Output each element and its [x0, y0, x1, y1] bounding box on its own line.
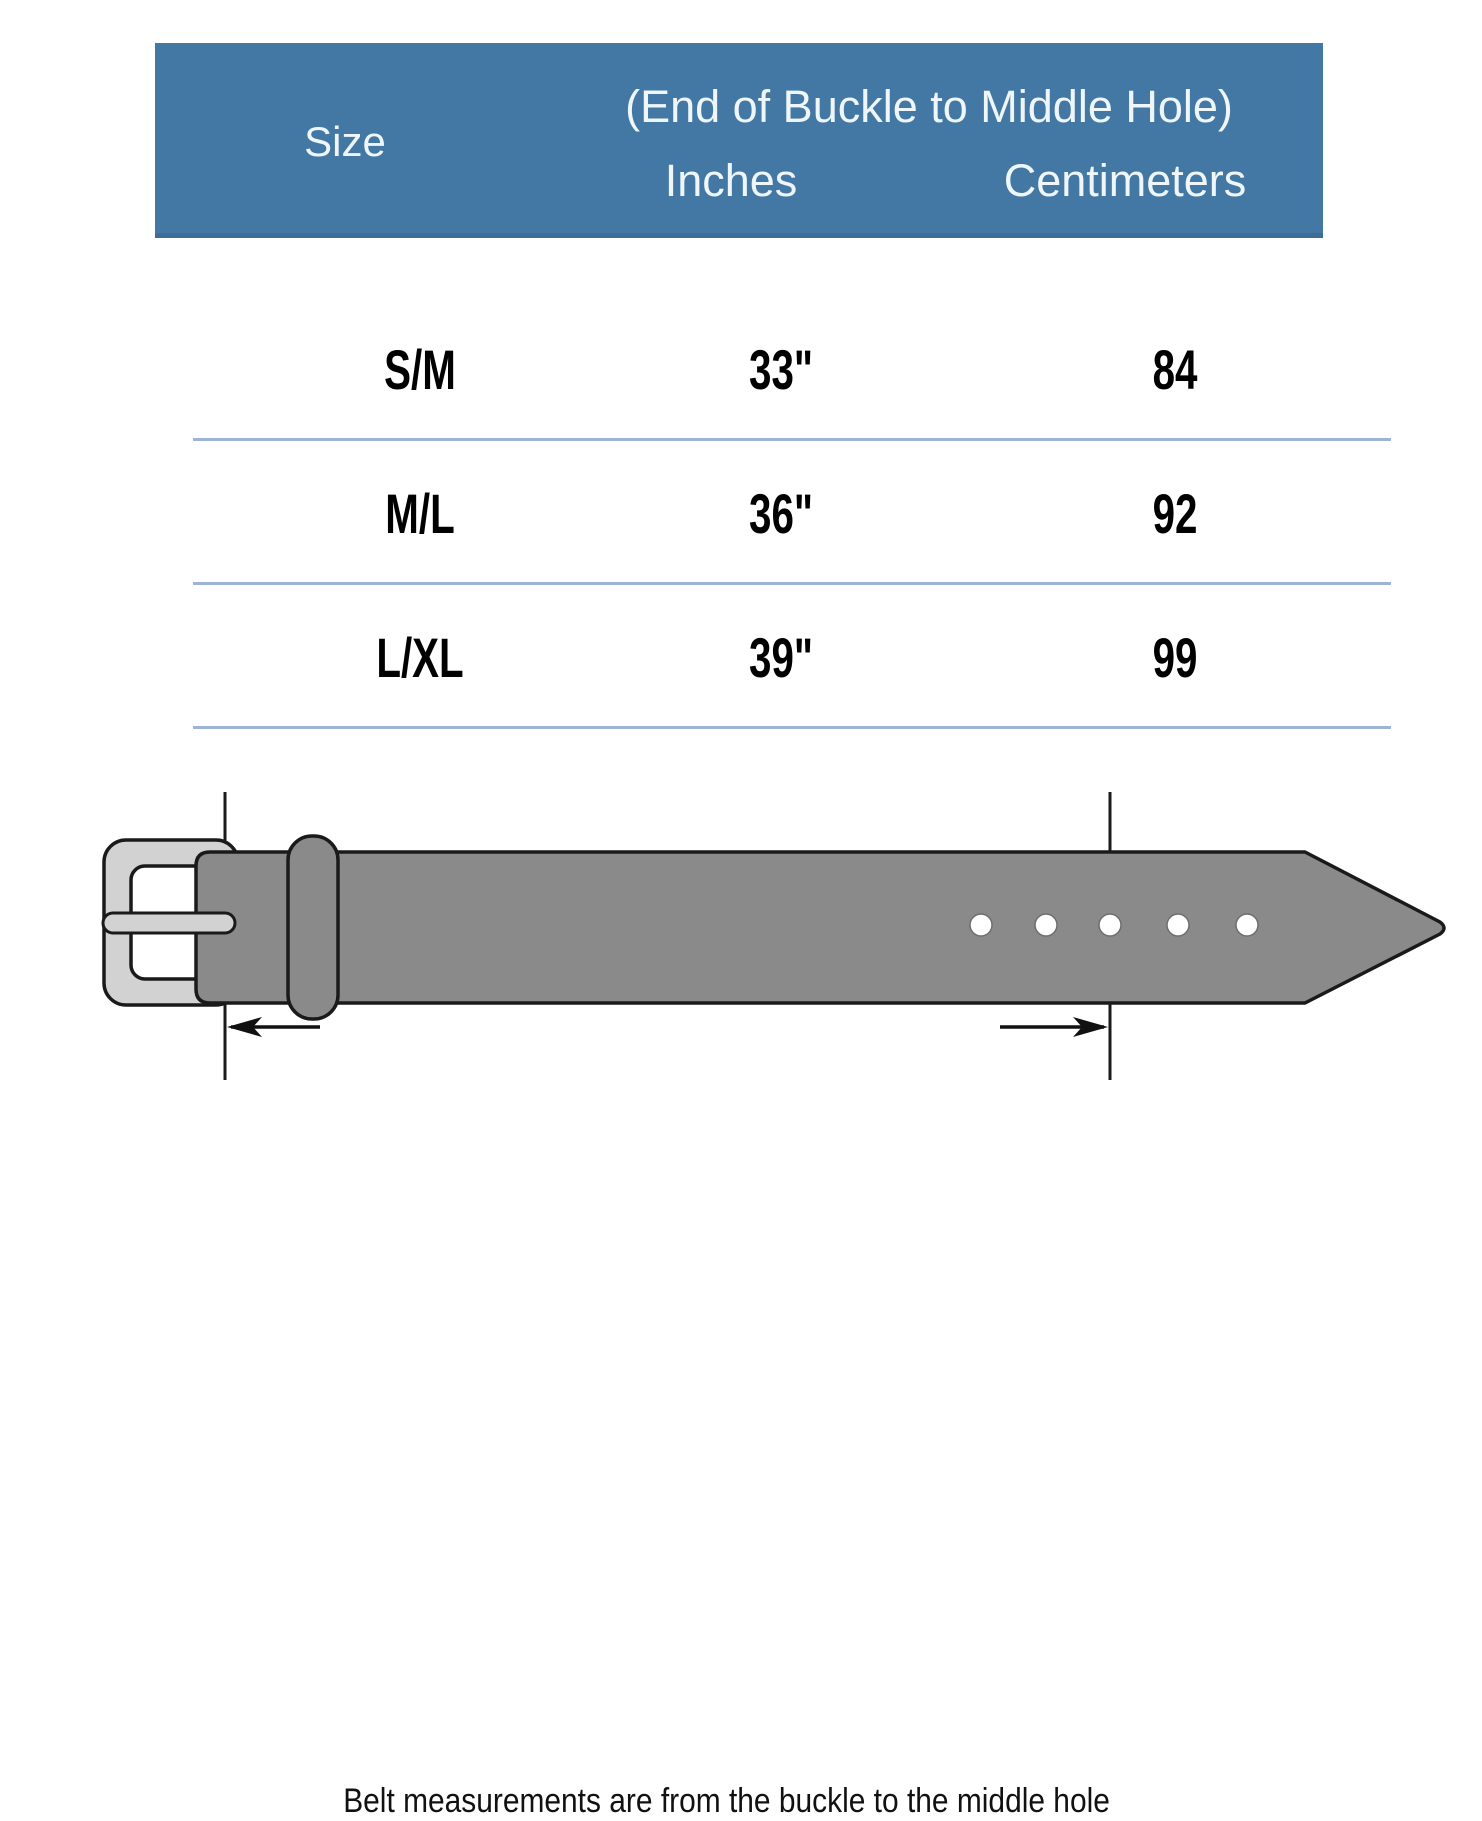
belt-hole [970, 914, 992, 936]
belt-hole [1035, 914, 1057, 936]
table-header-bar: Size (End of Buckle to Middle Hole) Inch… [155, 43, 1323, 238]
cell-size: M/L [301, 481, 539, 546]
belt-svg [0, 770, 1482, 1100]
cell-inches: 36" [640, 481, 922, 546]
cell-centimeters: 92 [1032, 481, 1317, 546]
size-chart-table: Size (End of Buckle to Middle Hole) Inch… [155, 43, 1323, 729]
belt-illustration: Belt measurements are from the buckle to… [0, 770, 1482, 1100]
belt-hole-middle [1099, 914, 1121, 936]
belt-keeper-loop [288, 836, 338, 1019]
cell-centimeters: 99 [1032, 625, 1317, 690]
cell-size: L/XL [301, 625, 539, 690]
column-header-span-note: (End of Buckle to Middle Hole) [535, 81, 1323, 133]
table-row: L/XL 39" 99 [193, 585, 1391, 729]
diagram-caption: Belt measurements are from the buckle to… [343, 1782, 977, 1821]
belt-hole [1167, 914, 1189, 936]
column-header-centimeters: Centimeters [927, 155, 1323, 207]
column-header-size: Size [155, 118, 535, 166]
belt-hole [1236, 914, 1258, 936]
cell-size: S/M [301, 337, 539, 402]
column-header-inches: Inches [535, 155, 927, 207]
cell-inches: 39" [640, 625, 922, 690]
table-row: M/L 36" 92 [193, 441, 1391, 585]
cell-inches: 33" [640, 337, 922, 402]
buckle-prong-bar [103, 913, 235, 933]
table-row: S/M 33" 84 [193, 238, 1391, 441]
table-body: S/M 33" 84 M/L 36" 92 L/XL 39" 99 [193, 238, 1391, 729]
cell-centimeters: 84 [1032, 337, 1317, 402]
